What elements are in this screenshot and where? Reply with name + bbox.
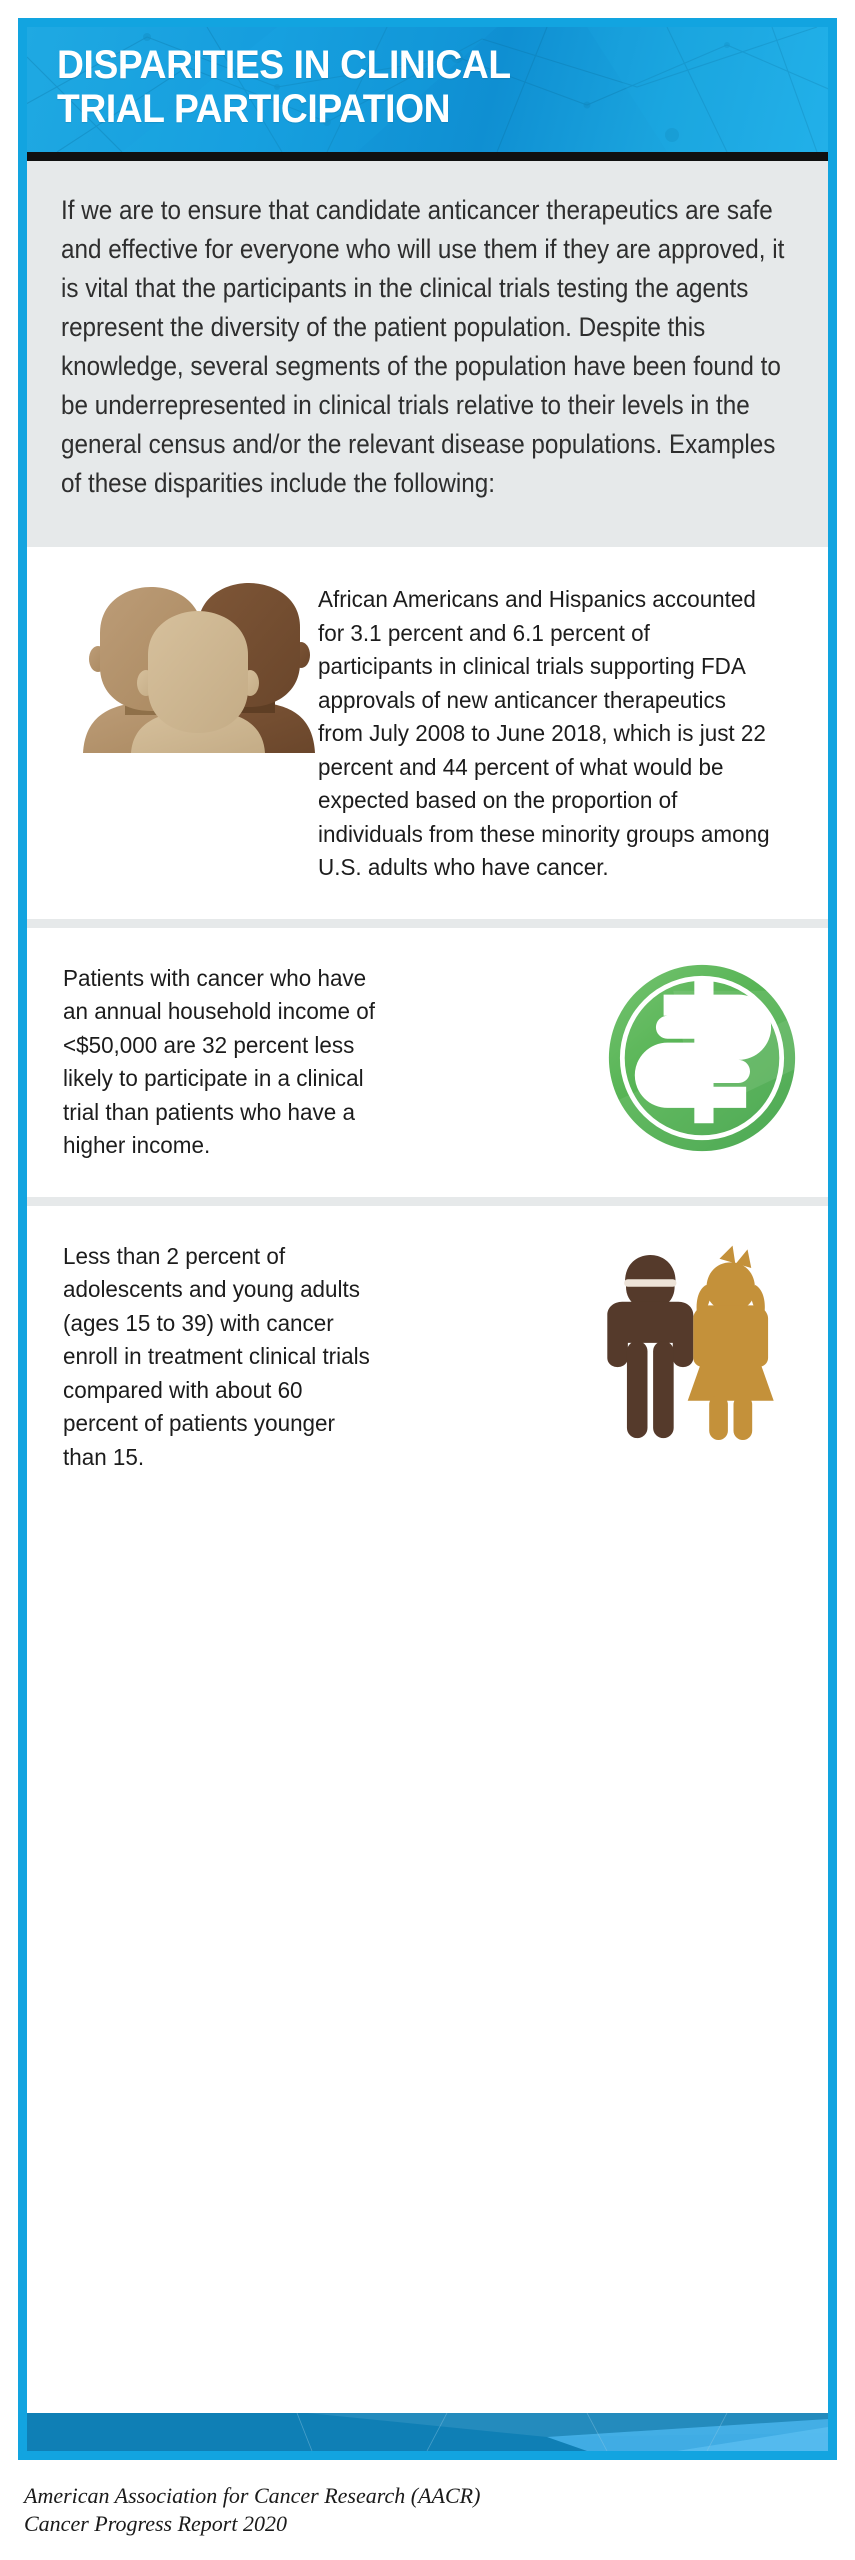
fact-text-income: Patients with cancer who have an annual … (63, 962, 388, 1163)
infographic-frame: DISPARITIES IN CLINICAL TRIAL PARTICIPAT… (18, 18, 837, 2460)
bottom-decoration-band (27, 2413, 828, 2451)
fact-card-race-ethnicity: African Americans and Hispanics accounte… (27, 547, 828, 919)
fact-text-age: Less than 2 percent of adolescents and y… (63, 1240, 378, 1475)
infographic-page: DISPARITIES IN CLINICAL TRIAL PARTICIPAT… (0, 0, 855, 2560)
intro-panel: If we are to ensure that candidate antic… (27, 161, 828, 547)
card-divider-2 (27, 1197, 828, 1206)
header-divider-rule (27, 152, 828, 161)
three-people-icon (73, 583, 318, 753)
header-banner: DISPARITIES IN CLINICAL TRIAL PARTICIPAT… (27, 27, 828, 152)
boy-and-girl-icon (583, 1240, 798, 1455)
boy-figure (607, 1254, 693, 1437)
fact-text-race-ethnicity: African Americans and Hispanics accounte… (318, 583, 771, 885)
dollar-coin-icon (606, 962, 798, 1154)
card-divider-1 (27, 919, 828, 928)
source-caption: American Association for Cancer Research… (24, 2482, 480, 2538)
girl-figure (688, 1245, 774, 1439)
fact-card-age: Less than 2 percent of adolescents and y… (27, 1206, 828, 1509)
fact-card-income: Patients with cancer who have an annual … (27, 928, 828, 1197)
intro-paragraph: If we are to ensure that candidate antic… (61, 191, 792, 503)
page-title: DISPARITIES IN CLINICAL TRIAL PARTICIPAT… (57, 43, 755, 131)
